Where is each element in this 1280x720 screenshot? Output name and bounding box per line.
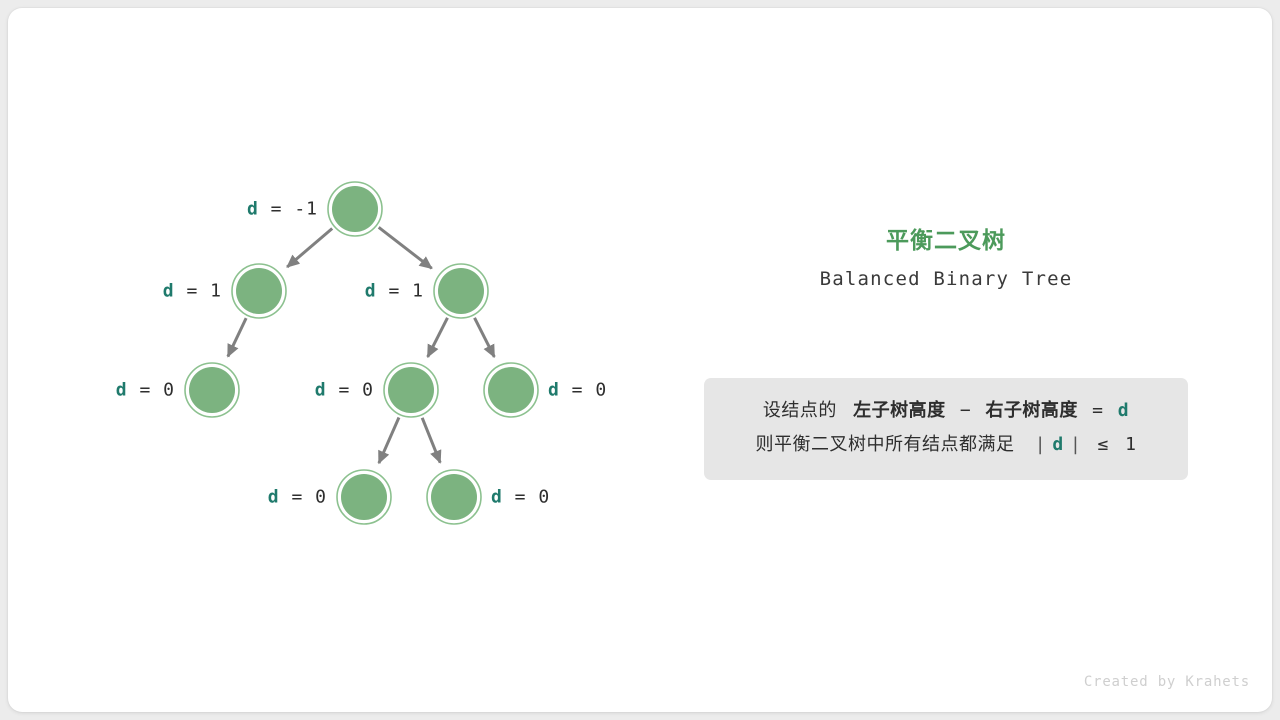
tree-node[interactable]	[438, 268, 484, 314]
formula-prefix-2: 则平衡二叉树中所有结点都满足	[756, 434, 1015, 455]
formula-minus: −	[960, 400, 971, 421]
formula-line-1: 设结点的 左子树高度 − 右子树高度 = d	[704, 394, 1188, 428]
tree-edge	[428, 318, 448, 357]
tree-node[interactable]	[431, 474, 477, 520]
node-balance-label: d = 1	[163, 281, 222, 302]
tree-node[interactable]	[189, 367, 235, 413]
info-panel: 平衡二叉树 Balanced Binary Tree 设结点的 左子树高度 − …	[696, 226, 1196, 292]
balance-factor-variable: d	[491, 487, 503, 508]
balance-factor-value: = 0	[503, 487, 550, 508]
formula-var-d-2: d	[1052, 434, 1063, 455]
balance-factor-value: = 0	[128, 380, 175, 401]
binary-tree-graphic	[8, 8, 1272, 712]
balance-factor-variable: d	[247, 199, 259, 220]
panel-title-en: Balanced Binary Tree	[696, 266, 1196, 292]
node-balance-label: d = 0	[548, 380, 607, 401]
node-balance-label: d = 1	[365, 281, 424, 302]
panel-title-cn: 平衡二叉树	[696, 226, 1196, 256]
balance-factor-variable: d	[315, 380, 327, 401]
balance-factor-variable: d	[548, 380, 560, 401]
balance-factor-variable: d	[365, 281, 377, 302]
formula-var-d-1: d	[1118, 400, 1129, 421]
formula-prefix-1: 设结点的	[763, 400, 837, 421]
tree-edges	[228, 227, 494, 463]
formula-box: 设结点的 左子树高度 − 右子树高度 = d 则平衡二叉树中所有结点都满足 | …	[704, 378, 1188, 480]
balance-factor-value: = -1	[259, 199, 318, 220]
abs-bar-close: |	[1070, 434, 1081, 455]
tree-node[interactable]	[341, 474, 387, 520]
abs-bar-open: |	[1035, 434, 1046, 455]
balance-factor-variable: d	[163, 281, 175, 302]
tree-edge	[475, 318, 495, 357]
tree-edge	[422, 418, 440, 463]
tree-node[interactable]	[388, 367, 434, 413]
tree-edge	[379, 417, 399, 463]
node-balance-label: d = 0	[491, 487, 550, 508]
tree-node[interactable]	[488, 367, 534, 413]
balance-factor-value: = 0	[327, 380, 374, 401]
formula-term-left: 左子树高度	[853, 400, 946, 421]
formula-bound-value: 1	[1125, 434, 1136, 455]
node-balance-label: d = 0	[268, 487, 327, 508]
tree-edge	[287, 228, 332, 266]
balance-factor-value: = 1	[377, 281, 424, 302]
tree-edge	[379, 227, 432, 268]
diagram-canvas: d = -1d = 1d = 1d = 0d = 0d = 0d = 0d = …	[8, 8, 1272, 712]
formula-line-2: 则平衡二叉树中所有结点都满足 | d | ≤ 1	[704, 428, 1188, 462]
balance-factor-value: = 1	[175, 281, 222, 302]
tree-node[interactable]	[236, 268, 282, 314]
tree-node[interactable]	[332, 186, 378, 232]
formula-le-operator: ≤	[1098, 434, 1109, 455]
formula-term-right: 右子树高度	[985, 400, 1078, 421]
formula-equals: =	[1092, 400, 1103, 421]
balance-factor-variable: d	[116, 380, 128, 401]
node-balance-label: d = 0	[116, 380, 175, 401]
node-balance-label: d = -1	[247, 199, 318, 220]
balance-factor-variable: d	[268, 487, 280, 508]
node-balance-label: d = 0	[315, 380, 374, 401]
balance-factor-value: = 0	[280, 487, 327, 508]
tree-nodes	[185, 182, 538, 524]
balance-factor-value: = 0	[560, 380, 607, 401]
credit-text: Created by Krahets	[1084, 674, 1250, 690]
tree-edge	[228, 318, 246, 356]
